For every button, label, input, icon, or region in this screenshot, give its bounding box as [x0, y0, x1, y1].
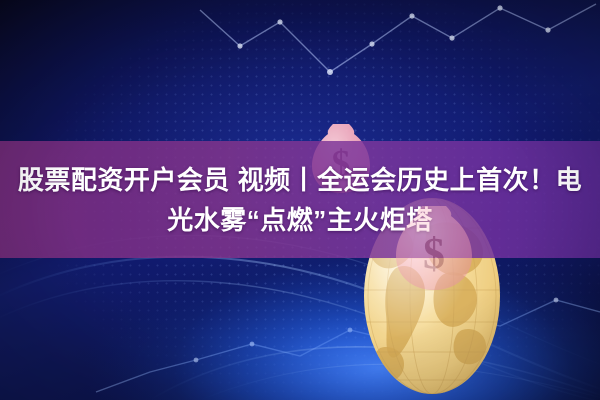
banner-image: $ 股票配资开户会员 视频丨全运会历史上首次！电 光水雾“点燃”主火炬塔 $ — [0, 0, 600, 400]
vignette-overlay — [0, 0, 600, 400]
